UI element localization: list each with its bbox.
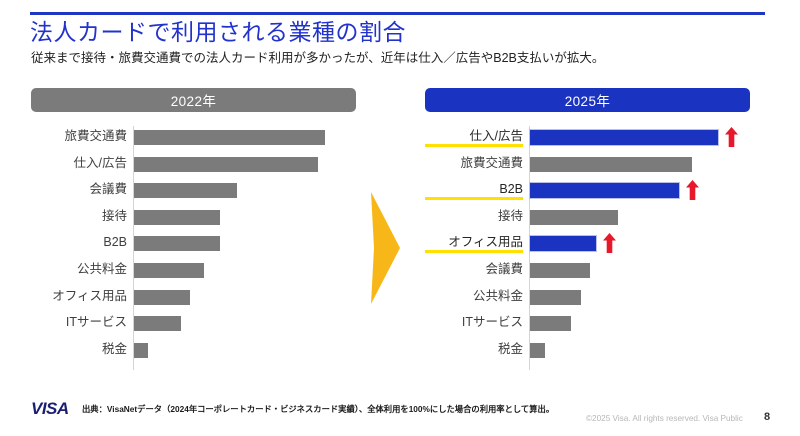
bar bbox=[529, 182, 680, 199]
bar bbox=[134, 263, 204, 278]
page-subtitle: 従来まで接待・旅費交通費での法人カード利用が多かったが、近年は仕入／広告やB2B… bbox=[31, 50, 604, 67]
bar-category-label: 仕入/広告 bbox=[425, 128, 523, 147]
bar-category-label: ITサービス bbox=[31, 314, 127, 330]
growth-up-arrow-icon bbox=[725, 127, 738, 147]
bar bbox=[134, 236, 220, 251]
bar-category-label: オフィス用品 bbox=[425, 234, 523, 253]
bar-category-label: 旅費交通費 bbox=[31, 128, 127, 144]
bar bbox=[530, 316, 571, 331]
bar-category-label: 旅費交通費 bbox=[425, 155, 523, 171]
bar-category-label: B2B bbox=[31, 234, 127, 250]
title-rule bbox=[30, 12, 765, 15]
growth-up-arrow-icon bbox=[686, 180, 699, 200]
bar-row: 旅費交通費 bbox=[31, 126, 356, 153]
bar-row: B2B bbox=[425, 179, 750, 206]
bar-row: ITサービス bbox=[31, 312, 356, 339]
bar-row: 公共料金 bbox=[425, 286, 750, 313]
bar-row: オフィス用品 bbox=[425, 232, 750, 259]
bar-category-label: 税金 bbox=[425, 341, 523, 357]
bar bbox=[134, 343, 148, 358]
chart-panel-2025: 2025年 仕入/広告旅費交通費B2B接待オフィス用品会議費公共料金ITサービス… bbox=[425, 88, 750, 374]
bar-category-label: 接待 bbox=[31, 208, 127, 224]
bar-row: 会議費 bbox=[425, 259, 750, 286]
bar bbox=[529, 129, 719, 146]
bar bbox=[134, 210, 220, 225]
bar-row: ITサービス bbox=[425, 312, 750, 339]
bar bbox=[530, 263, 590, 278]
visa-logo: VISA bbox=[31, 399, 69, 419]
bar bbox=[529, 235, 597, 252]
bar-row: B2B bbox=[31, 232, 356, 259]
page-title: 法人カードで利用される業種の割合 bbox=[30, 17, 406, 47]
bar-row: 旅費交通費 bbox=[425, 153, 750, 180]
bar-category-label: 会議費 bbox=[425, 261, 523, 277]
bar bbox=[134, 130, 325, 145]
copyright-note: ©2025 Visa. All rights reserved. Visa Pu… bbox=[586, 414, 743, 423]
bar-category-label: ITサービス bbox=[425, 314, 523, 330]
bar-row: 接待 bbox=[31, 206, 356, 233]
bar bbox=[530, 290, 581, 305]
growth-up-arrow-icon bbox=[603, 233, 616, 253]
bar bbox=[530, 157, 692, 172]
page-number: 8 bbox=[764, 411, 770, 423]
bar-category-label: 公共料金 bbox=[425, 288, 523, 304]
bar-category-label: オフィス用品 bbox=[31, 288, 127, 304]
chart-title-2022: 2022年 bbox=[31, 88, 356, 112]
bar bbox=[134, 157, 318, 172]
transition-arrow-icon bbox=[371, 192, 400, 304]
bar bbox=[530, 210, 618, 225]
bar-chart-2025: 仕入/広告旅費交通費B2B接待オフィス用品会議費公共料金ITサービス税金 bbox=[425, 126, 750, 374]
bar bbox=[134, 183, 237, 198]
bar-category-label: 会議費 bbox=[31, 181, 127, 197]
bar bbox=[134, 290, 190, 305]
bar-category-label: B2B bbox=[425, 181, 523, 200]
chart-panel-2022: 2022年 旅費交通費仕入/広告会議費接待B2B公共料金オフィス用品ITサービス… bbox=[31, 88, 356, 374]
slide: 法人カードで利用される業種の割合 従来まで接待・旅費交通費での法人カード利用が多… bbox=[0, 0, 800, 436]
bar-row: 公共料金 bbox=[31, 259, 356, 286]
bar-category-label: 公共料金 bbox=[31, 261, 127, 277]
bar-row: オフィス用品 bbox=[31, 286, 356, 313]
bar-category-label: 税金 bbox=[31, 341, 127, 357]
bar bbox=[134, 316, 181, 331]
chart-title-2025: 2025年 bbox=[425, 88, 750, 112]
bar-category-label: 仕入/広告 bbox=[31, 155, 127, 171]
bar bbox=[530, 343, 545, 358]
bar-row: 仕入/広告 bbox=[425, 126, 750, 153]
bar-row: 税金 bbox=[425, 339, 750, 366]
bar-category-label: 接待 bbox=[425, 208, 523, 224]
bar-row: 接待 bbox=[425, 206, 750, 233]
bar-row: 税金 bbox=[31, 339, 356, 366]
bar-row: 会議費 bbox=[31, 179, 356, 206]
bar-row: 仕入/広告 bbox=[31, 153, 356, 180]
source-note: 出典：VisaNetデータ（2024年コーポレートカード・ビジネスカード実績）、… bbox=[82, 403, 554, 415]
bar-chart-2022: 旅費交通費仕入/広告会議費接待B2B公共料金オフィス用品ITサービス税金 bbox=[31, 126, 356, 374]
